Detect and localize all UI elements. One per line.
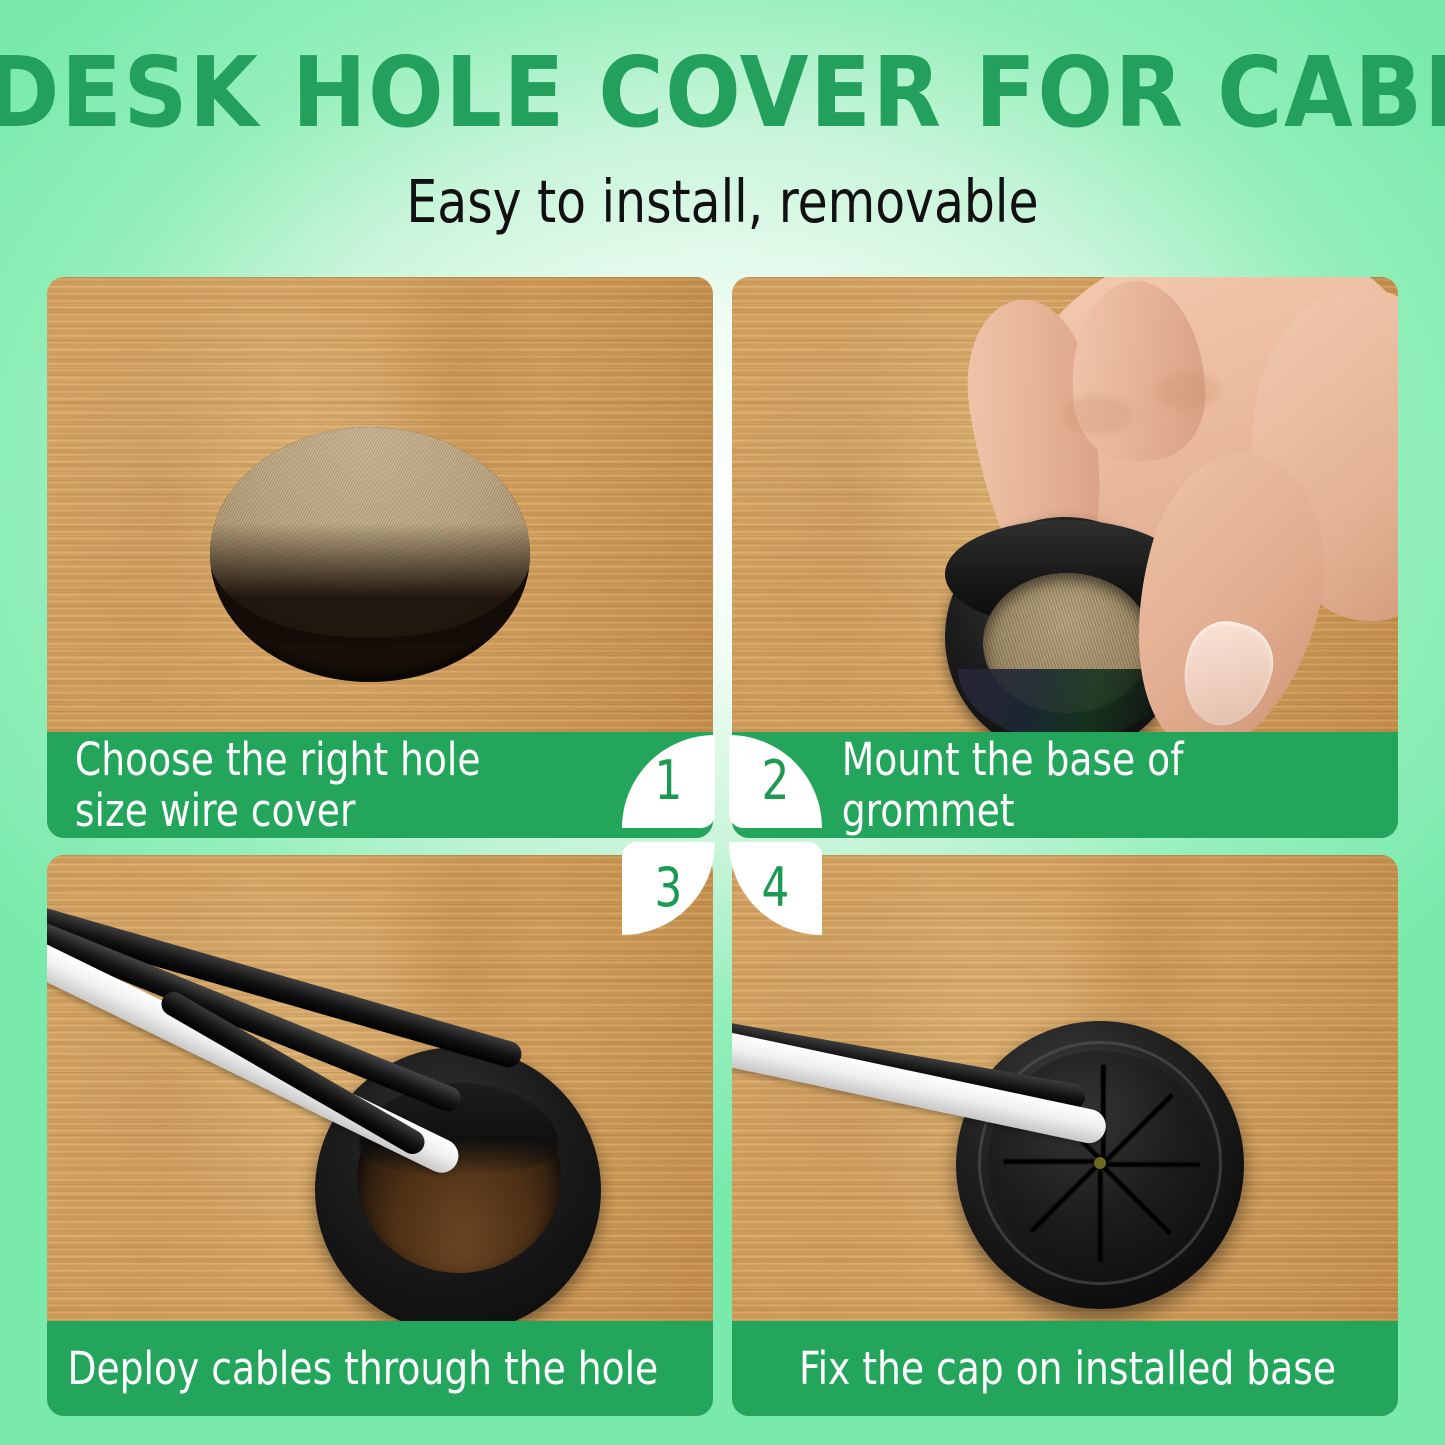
- hand-foreground: [732, 277, 1398, 732]
- cap-slit: [1030, 1161, 1102, 1233]
- hole-shadow: [210, 523, 530, 643]
- step-2-caption-text: Mount the base of grommet: [732, 734, 1351, 837]
- cap-slit: [1102, 1163, 1200, 1167]
- step-3-caption-text: Deploy cables through the hole: [47, 1343, 658, 1394]
- step-3-caption-bar: Deploy cables through the hole: [47, 1321, 713, 1416]
- cap-slit: [1099, 1163, 1171, 1235]
- cap-center-hub: [1094, 1157, 1106, 1169]
- drilled-hole: [210, 427, 530, 682]
- step-1-caption-bar: Choose the right hole size wire cover: [47, 732, 713, 838]
- cap-slit: [1102, 1094, 1174, 1166]
- infographic-poster: DESK HOLE COVER FOR CABLES Easy to insta…: [0, 0, 1445, 1445]
- cap-slit: [1004, 1160, 1102, 1164]
- step-4-caption-text: Fix the cap on installed base: [732, 1343, 1336, 1394]
- cap-slit: [1098, 1163, 1102, 1261]
- step-3-photo: [47, 855, 713, 1321]
- step-card-1: Choose the right hole size wire cover: [47, 277, 713, 838]
- step-4-caption-bar: Fix the cap on installed base: [732, 1321, 1398, 1416]
- page-subtitle: Easy to install, removable: [58, 172, 1387, 231]
- step-card-3: Deploy cables through the hole: [47, 855, 713, 1416]
- step-4-photo: [732, 855, 1398, 1321]
- page-title: DESK HOLE COVER FOR CABLES: [0, 44, 1445, 141]
- step-card-2: Mount the base of grommet: [732, 277, 1398, 838]
- step-2-caption-bar: Mount the base of grommet: [732, 732, 1398, 838]
- steps-grid: Choose the right hole size wire cover: [47, 277, 1398, 1416]
- step-2-photo: [732, 277, 1398, 732]
- step-1-caption-text: Choose the right hole size wire cover: [47, 734, 481, 837]
- step-card-4: Fix the cap on installed base: [732, 855, 1398, 1416]
- cap-slit: [1102, 1065, 1106, 1163]
- step-1-photo: [47, 277, 713, 732]
